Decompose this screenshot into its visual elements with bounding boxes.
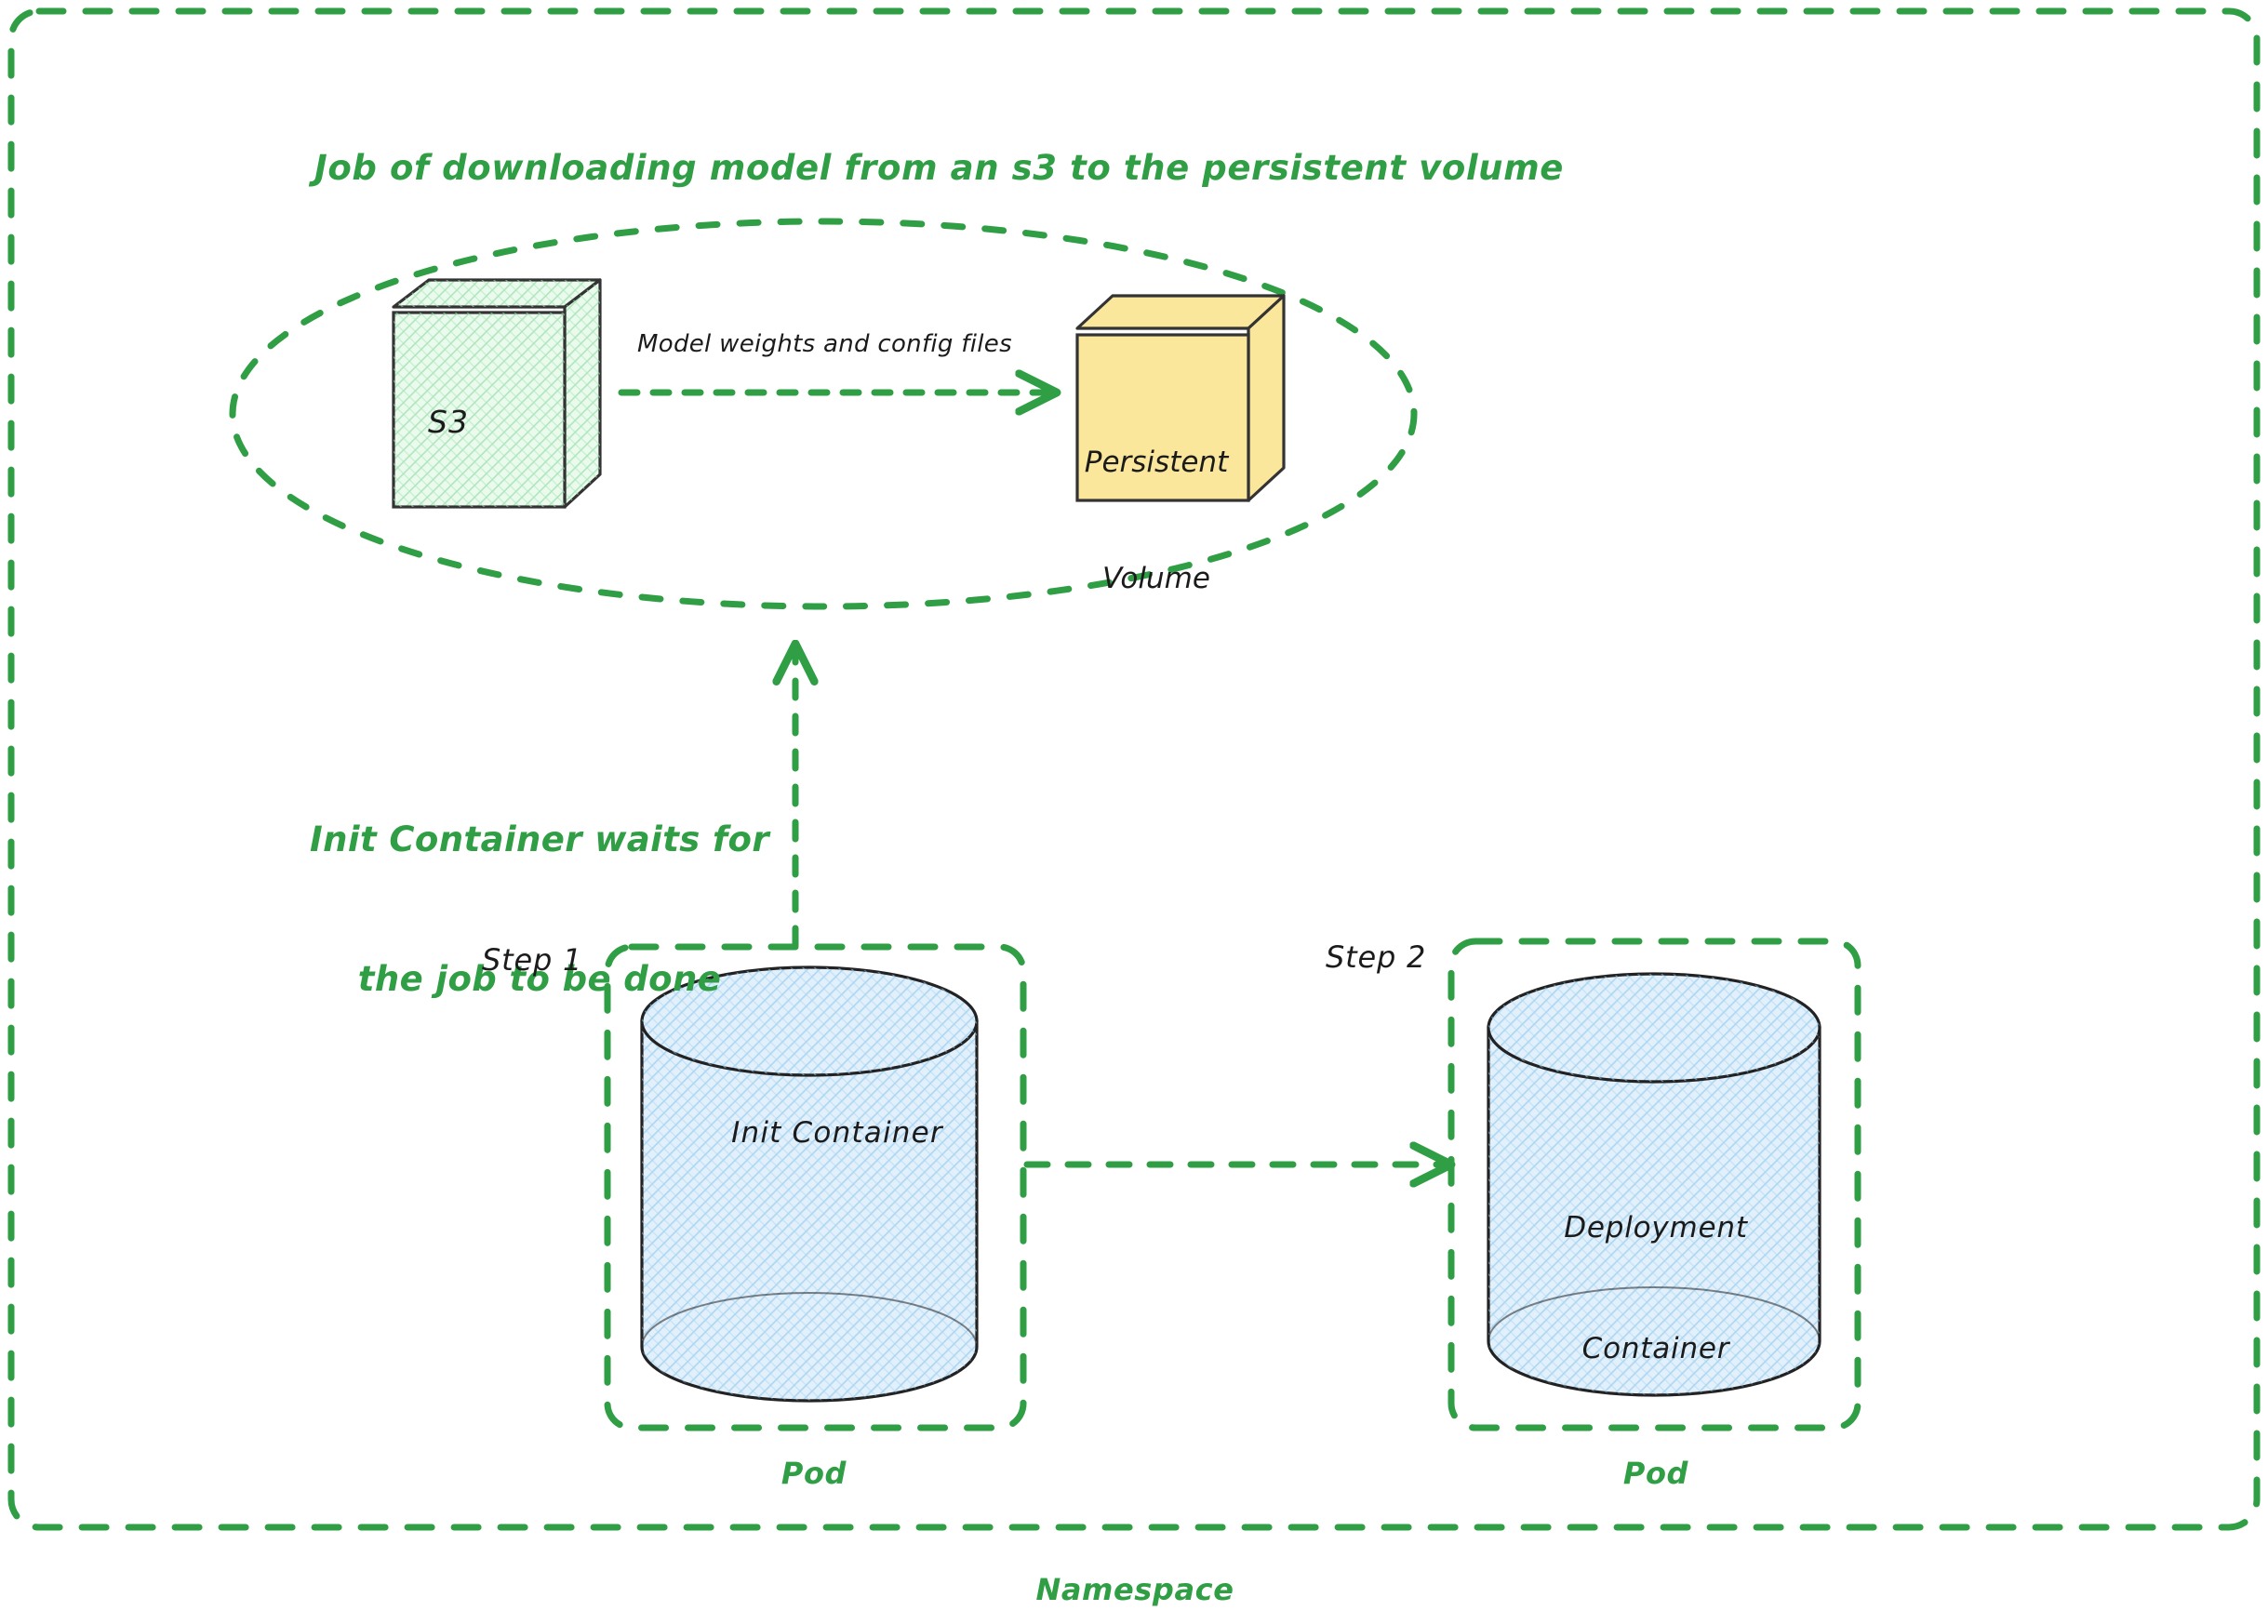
pod-step-2-group-label: Pod — [1544, 1456, 1768, 1492]
init-container-label: Init Container — [633, 1116, 1042, 1151]
deployment-container-label-line-2: Container — [1488, 1329, 1823, 1369]
job-group-title: Job of downloading model from an s3 to t… — [314, 147, 1564, 189]
persistent-volume-label-line-2: Volume — [1077, 560, 1235, 599]
step-1-label: Step 1 — [482, 942, 582, 978]
persistent-volume-label-line-1: Persistent — [1077, 444, 1235, 483]
wait-edge-label: Init Container waits for the job to be d… — [288, 724, 791, 1096]
deployment-container-label-line-1: Deployment — [1488, 1208, 1823, 1248]
step-2-label: Step 2 — [1326, 939, 1426, 976]
persistent-volume-node-label: Persistent Volume — [1077, 366, 1235, 677]
pod-step-1-group-label: Pod — [702, 1456, 926, 1492]
edge-label-model-weights: Model weights and config files — [637, 330, 1012, 360]
s3-node-label: S3 — [428, 404, 469, 441]
diagram-canvas: Job of downloading model from an s3 to t… — [0, 0, 2268, 1624]
deployment-container-label: Deployment Container — [1488, 1127, 1823, 1450]
s3-cube-shape — [394, 280, 600, 507]
wait-edge-label-line-1: Init Container waits for — [288, 817, 791, 863]
namespace-label: Namespace — [967, 1572, 1302, 1608]
